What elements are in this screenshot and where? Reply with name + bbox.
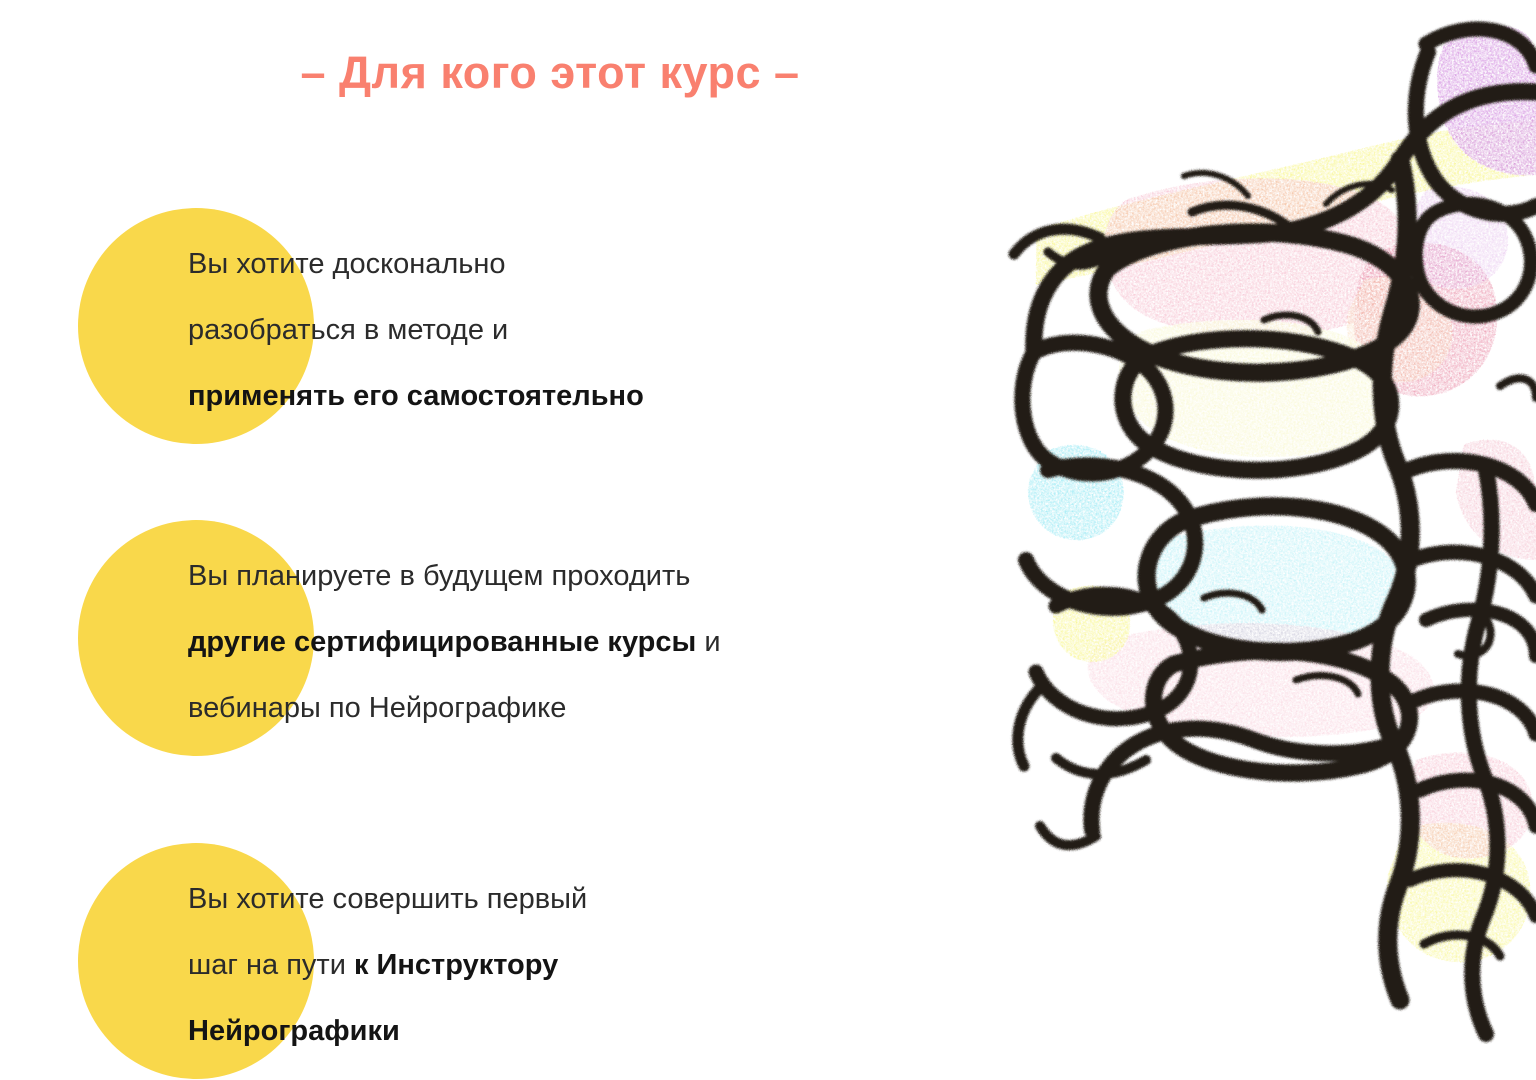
list-item-emphasis: к Инструктору xyxy=(354,949,558,981)
list-item-line: применять его самостоятельно xyxy=(188,363,1088,429)
list-item-line: разобраться в методе и xyxy=(188,297,1088,363)
list-item-emphasis: применять его самостоятельно xyxy=(188,380,644,412)
list-item-line: вебинары по Нейрографике xyxy=(188,675,1088,741)
list-item-emphasis: другие сертифицированные курсы xyxy=(188,626,696,658)
list-item-line: другие сертифицированные курсы и xyxy=(188,609,1088,675)
list-item-line-tail: и xyxy=(696,626,720,658)
list-item-line: Вы хотите совершить первый xyxy=(188,866,1088,932)
list-item-text: Вы хотите досконально разобраться в мето… xyxy=(188,231,1088,429)
list-item-text: Вы хотите совершить первый шаг на пути к… xyxy=(188,866,1088,1064)
bullet-list: Вы хотите досконально разобраться в мето… xyxy=(0,0,1020,1080)
list-item-line: шаг на пути к Инструктору xyxy=(188,932,1088,998)
list-item-line-lead: шаг на пути xyxy=(188,949,354,981)
list-item-line: Вы хотите досконально xyxy=(188,231,1088,297)
list-item-line: Нейрографики xyxy=(188,998,1088,1064)
list-item-emphasis: Нейрографики xyxy=(188,1015,400,1047)
slide-root: – Для кого этот курс – xyxy=(0,0,1536,1080)
list-item-line: Вы планируете в будущем проходить xyxy=(188,543,1088,609)
list-item-text: Вы планируете в будущем проходить другие… xyxy=(188,543,1088,741)
